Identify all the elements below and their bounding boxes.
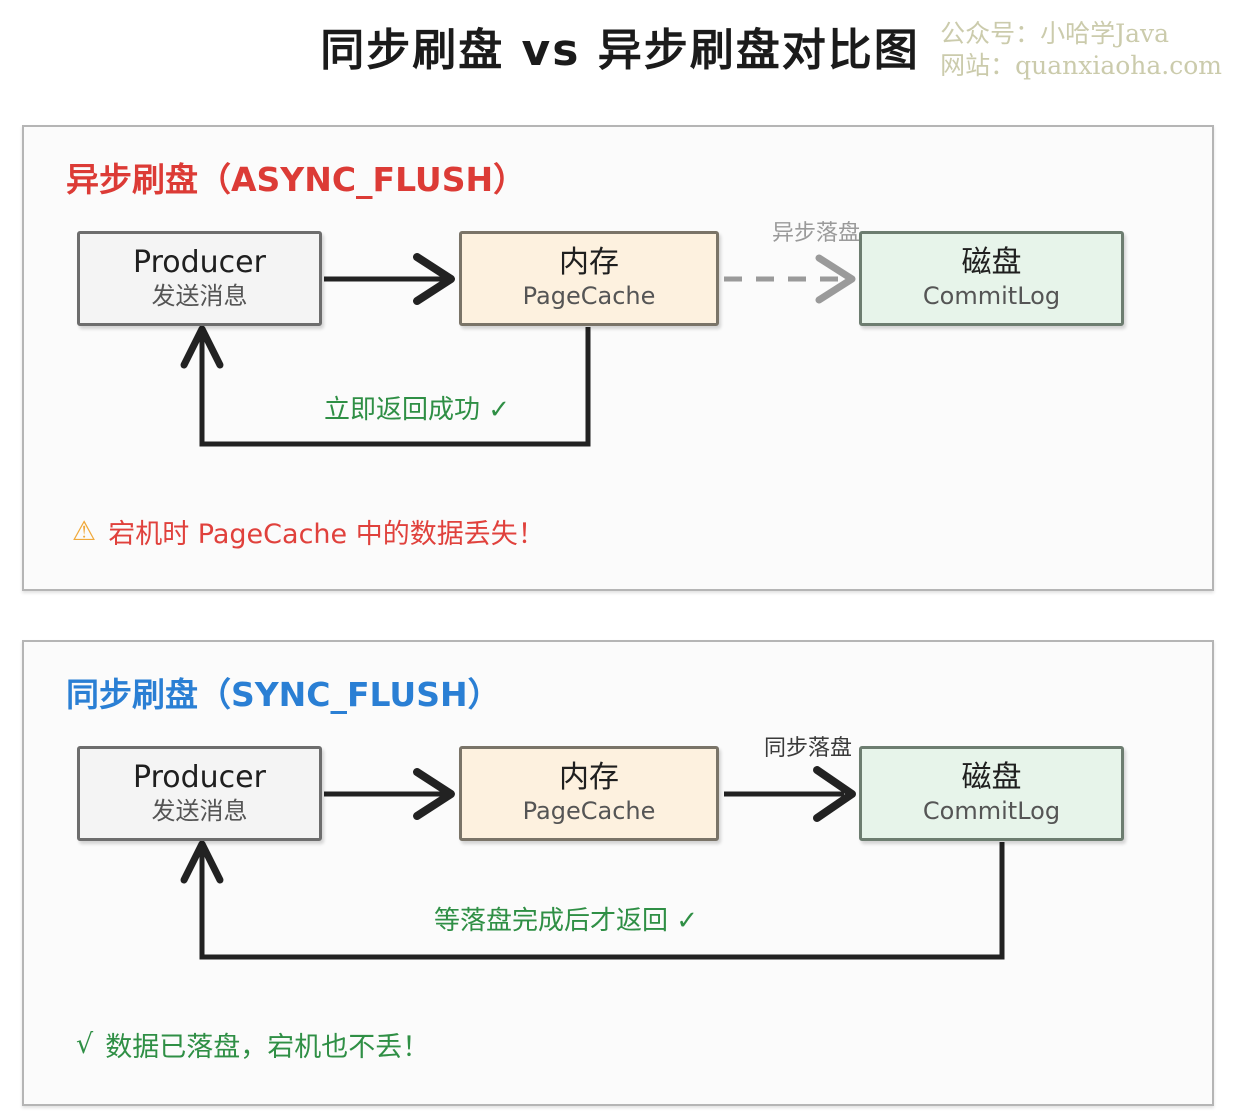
node-disk-subtitle: CommitLog [923, 797, 1060, 826]
node-producer[interactable]: Producer 发送消息 [77, 746, 322, 841]
node-memory-title: 内存 [559, 761, 619, 795]
node-producer[interactable]: Producer 发送消息 [77, 231, 322, 326]
node-memory[interactable]: 内存 PageCache [459, 231, 719, 326]
edge-label-sync-return: 等落盘完成后才返回 ✓ [434, 900, 698, 937]
edge-label-async-return: 立即返回成功 ✓ [324, 389, 510, 426]
sync-footnote: √ 数据已落盘，宕机也不丢！ [76, 1025, 429, 1064]
watermark-line-1: 公众号：小哈学Java [940, 18, 1222, 50]
node-producer-subtitle: 发送消息 [152, 797, 248, 826]
node-memory-subtitle: PageCache [523, 282, 656, 311]
node-memory[interactable]: 内存 PageCache [459, 746, 719, 841]
sync-footnote-text: 数据已落盘，宕机也不丢！ [105, 1025, 429, 1064]
node-disk-subtitle: CommitLog [923, 282, 1060, 311]
node-producer-title: Producer [133, 761, 266, 795]
node-disk[interactable]: 磁盘 CommitLog [859, 746, 1124, 841]
node-producer-subtitle: 发送消息 [152, 282, 248, 311]
watermark-line-2: 网站：quanxiaoha.com [940, 50, 1222, 82]
edge-return-to-producer [202, 327, 588, 444]
node-memory-subtitle: PageCache [523, 797, 656, 826]
node-producer-title: Producer [133, 246, 266, 280]
node-disk-title: 磁盘 [962, 246, 1022, 280]
async-footnote: ⚠ 宕机时 PageCache 中的数据丢失！ [72, 512, 545, 551]
node-memory-title: 内存 [559, 246, 619, 280]
node-disk[interactable]: 磁盘 CommitLog [859, 231, 1124, 326]
edge-label-sync-flush: 同步落盘 [764, 730, 852, 762]
async-footnote-text: 宕机时 PageCache 中的数据丢失！ [108, 512, 545, 551]
edge-label-async-flush: 异步落盘 [772, 215, 860, 247]
warning-icon: ⚠ [72, 518, 96, 545]
panel-async-flush: 异步刷盘（ASYNC_FLUSH） Producer 发送消息 内存 PageC… [22, 125, 1214, 591]
panel-sync-flush: 同步刷盘（SYNC_FLUSH） Producer 发送消息 内存 PageCa… [22, 640, 1214, 1106]
check-icon: √ [76, 1031, 93, 1058]
watermark: 公众号：小哈学Java 网站：quanxiaoha.com [940, 18, 1222, 82]
node-disk-title: 磁盘 [962, 761, 1022, 795]
